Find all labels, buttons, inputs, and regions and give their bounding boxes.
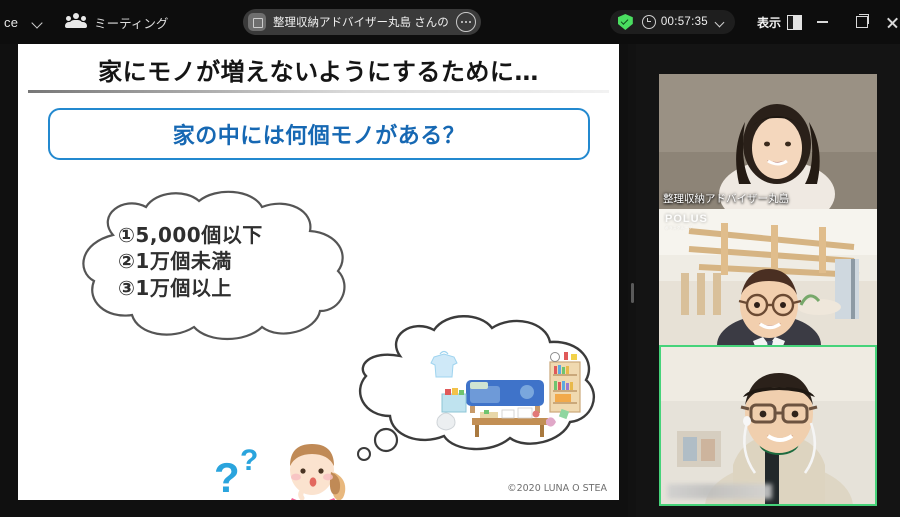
- layout-icon: [787, 15, 802, 30]
- question-marks-icon: ? ?: [214, 436, 284, 500]
- security-timer-group[interactable]: 00:57:35: [610, 10, 735, 34]
- shield-check-icon[interactable]: [618, 14, 633, 30]
- answer-option-1: ①5,000個以下: [118, 222, 263, 248]
- top-bar-right: 00:57:35 表示: [610, 0, 900, 44]
- svg-text:?: ?: [214, 454, 240, 500]
- participant-name-label-3-blurred: [667, 484, 772, 499]
- panel-splitter[interactable]: [628, 44, 636, 517]
- screen-share-title: 整理収納アドバイザー丸島 さんの: [273, 14, 449, 30]
- video-tile-2[interactable]: POLUS ポラスグループ: [659, 209, 877, 345]
- question-box: 家の中には何個モノがある？: [48, 108, 590, 160]
- meeting-timer: 00:57:35: [661, 16, 708, 28]
- minimize-button[interactable]: [802, 0, 842, 44]
- slide-copyright: ©2020 LUNA O STEA: [507, 483, 607, 494]
- restore-icon: [856, 16, 868, 28]
- chevron-down-icon[interactable]: [713, 15, 727, 29]
- meeting-tab-label[interactable]: ミーティング: [94, 13, 168, 32]
- view-button[interactable]: 表示: [757, 14, 802, 31]
- video-tile-3-active-speaker[interactable]: [659, 345, 877, 506]
- shared-screen-stage: 家にモノが増えないようにするために… 家の中には何個モノがある？ ①5,000個…: [0, 44, 631, 517]
- minimize-icon: [817, 21, 828, 23]
- video-feed-3: [661, 347, 875, 504]
- presentation-slide[interactable]: 家にモノが増えないようにするために… 家の中には何個モノがある？ ①5,000個…: [18, 44, 619, 500]
- more-options-icon[interactable]: [456, 12, 476, 32]
- video-feed-1: [659, 74, 877, 209]
- answer-options: ①5,000個以下 ②1万個未満 ③1万個以上: [118, 222, 263, 301]
- meeting-window: ce ミーティング 整理収納アドバイザー丸島 さんの 00:57:35 表示: [0, 0, 900, 517]
- chevron-down-icon[interactable]: [30, 14, 46, 30]
- restore-button[interactable]: [842, 0, 882, 44]
- question-box-text: 家の中には何個モノがある？: [173, 118, 466, 150]
- people-icon: [66, 13, 86, 31]
- org-name-label[interactable]: ce: [0, 15, 18, 30]
- answer-option-3: ③1万個以上: [118, 275, 263, 301]
- title-divider: [28, 90, 609, 93]
- top-bar-left: ce ミーティング: [0, 0, 168, 44]
- video-tile-1[interactable]: 整理収納アドバイザー丸島: [659, 74, 877, 209]
- polus-watermark: POLUS ポラスグループ: [665, 213, 708, 230]
- drag-handle-icon[interactable]: [631, 283, 634, 303]
- close-button[interactable]: [882, 0, 900, 44]
- clock-icon: [642, 15, 656, 29]
- view-button-label: 表示: [757, 14, 781, 31]
- screen-share-pill[interactable]: 整理収納アドバイザー丸島 さんの: [243, 9, 481, 35]
- screen-share-icon: [248, 13, 266, 31]
- video-panel: 整理収納アドバイザー丸島: [636, 44, 900, 517]
- close-icon: [886, 17, 897, 28]
- participant-name-label-1: 整理収納アドバイザー丸島: [663, 191, 789, 206]
- answer-option-2: ②1万個未満: [118, 248, 263, 274]
- thinking-woman-illustration: [276, 436, 356, 500]
- top-bar: ce ミーティング 整理収納アドバイザー丸島 さんの 00:57:35 表示: [0, 0, 900, 44]
- svg-text:?: ?: [240, 444, 258, 477]
- messy-room-illustration: [414, 344, 584, 444]
- slide-title: 家にモノが増えないようにするために…: [18, 52, 619, 87]
